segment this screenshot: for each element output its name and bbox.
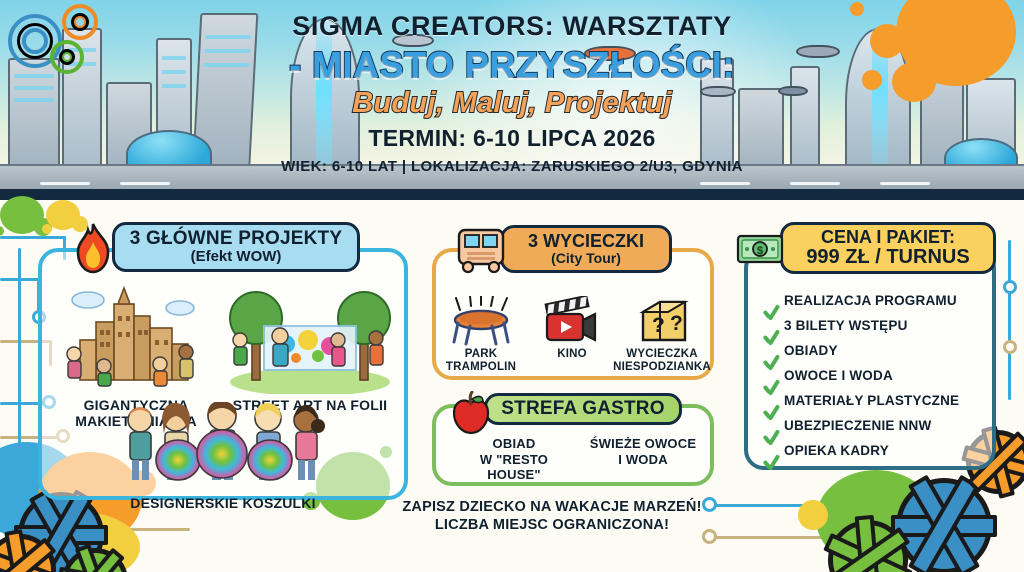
trampoline-icon	[436, 296, 526, 348]
banner-bottom-strip	[0, 189, 1024, 200]
trips-header-pill: 3 WYCIECZKI (City Tour)	[500, 225, 672, 273]
poster-root: SIGMA CREATORS: WARSZTATY - MIASTO PRZYS…	[0, 0, 1024, 572]
cardboard-city-art	[60, 282, 212, 394]
projects-title: 3 GŁÓWNE PROJEKTY	[130, 229, 342, 249]
price-list-item: UBEZPIECZENIE NNW	[760, 413, 1000, 438]
banner-text-block: SIGMA CREATORS: WARSZTATY - MIASTO PRZYS…	[0, 0, 1024, 189]
price-list-item: OPIEKA KADRY	[760, 438, 1000, 463]
trips-subtitle: (City Tour)	[551, 251, 621, 266]
hero-banner: SIGMA CREATORS: WARSZTATY - MIASTO PRZYS…	[0, 0, 1024, 200]
trips-title: 3 WYCIECZKI	[528, 232, 644, 251]
trip-item-2: KINO	[527, 296, 617, 361]
trip-1-label-line2: TRAMPOLIN	[436, 361, 526, 374]
svg-text:$: $	[757, 245, 763, 257]
trip-item-3: ? ? WYCIECZKA NIESPODZIANKA	[612, 296, 712, 374]
price-list-item: OBIADY	[760, 338, 1000, 363]
price-list-item: REALIZACJA PROGRAMU	[760, 288, 1000, 313]
school-bus-icon	[455, 226, 507, 274]
tie-dye-shirts-art	[118, 402, 328, 494]
project-3-label-line1: DESIGNERSKIE KOSZULKI	[116, 496, 330, 512]
street-art-foil-art	[224, 282, 396, 394]
gastro-2-line2: I WODA	[580, 452, 706, 468]
price-header-pill: CENA I PAKIET: 999 ZŁ / TURNUS	[780, 222, 996, 274]
banner-meta: WIEK: 6-10 LAT | LOKALIZACJA: ZARUSKIEGO…	[0, 158, 1024, 175]
paint-splatter	[0, 196, 44, 234]
gastro-1-line1: OBIAD	[452, 436, 576, 452]
banner-subtitle: Buduj, Maluj, Projektuj	[0, 87, 1024, 120]
price-title: CENA I PAKIET:	[821, 228, 955, 247]
trip-1-label-line1: PARK	[436, 348, 526, 361]
project-item-3: DESIGNERSKIE KOSZULKI	[116, 402, 330, 512]
banknote-icon: $	[736, 234, 784, 264]
cta-line-1: ZAPISZ DZIECKO NA WAKACJE MARZEŃ!	[392, 498, 712, 516]
price-list-item: 3 BILETY WSTĘPU	[760, 313, 1000, 338]
gastro-1-line2: W "RESTO HOUSE"	[452, 452, 576, 483]
circuit-trace	[1002, 240, 1024, 400]
trip-3-label-line1: WYCIECZKA	[612, 348, 712, 361]
price-list-item: OWOCE I WODA	[760, 363, 1000, 388]
project-item-2: STREET ART NA FOLII	[222, 282, 398, 414]
trip-3-label-line2: NIESPODZIANKA	[612, 361, 712, 374]
gastro-column-1: OBIAD W "RESTO HOUSE"	[452, 436, 576, 483]
banner-dates: TERMIN: 6-10 LIPCA 2026	[0, 125, 1024, 152]
projects-subtitle: (Efekt WOW)	[191, 249, 282, 265]
svg-text:?: ?	[670, 312, 683, 335]
gastro-column-2: ŚWIEŻE OWOCE I WODA	[580, 436, 706, 467]
gastro-2-line1: ŚWIEŻE OWOCE	[580, 436, 706, 452]
mystery-box-icon: ? ?	[612, 296, 712, 348]
banner-title: - MIASTO PRZYSZŁOŚCI:	[0, 44, 1024, 86]
gastro-header-pill: STREFA GASTRO	[484, 393, 682, 425]
price-amount: 999 ZŁ / TURNUS	[806, 247, 969, 268]
svg-text:?: ?	[652, 314, 665, 337]
trip-2-label-line1: KINO	[527, 348, 617, 361]
call-to-action: ZAPISZ DZIECKO NA WAKACJE MARZEŃ! LICZBA…	[392, 498, 712, 534]
gear-icon	[0, 534, 56, 572]
cta-line-2: LICZBA MIEJSC OGRANICZONA!	[392, 516, 712, 534]
trip-item-1: PARK TRAMPOLIN	[436, 296, 526, 374]
gastro-title: STREFA GASTRO	[501, 399, 664, 419]
apple-icon	[450, 391, 492, 435]
projects-header-pill: 3 GŁÓWNE PROJEKTY (Efekt WOW)	[112, 222, 360, 272]
fire-icon	[70, 222, 116, 274]
banner-line-1: SIGMA CREATORS: WARSZTATY	[0, 11, 1024, 42]
price-list-item: MATERIAŁY PLASTYCZNE	[760, 388, 1000, 413]
price-feature-list: REALIZACJA PROGRAMU 3 BILETY WSTĘPU OBIA…	[760, 288, 1000, 463]
cinema-camera-icon	[527, 296, 617, 348]
